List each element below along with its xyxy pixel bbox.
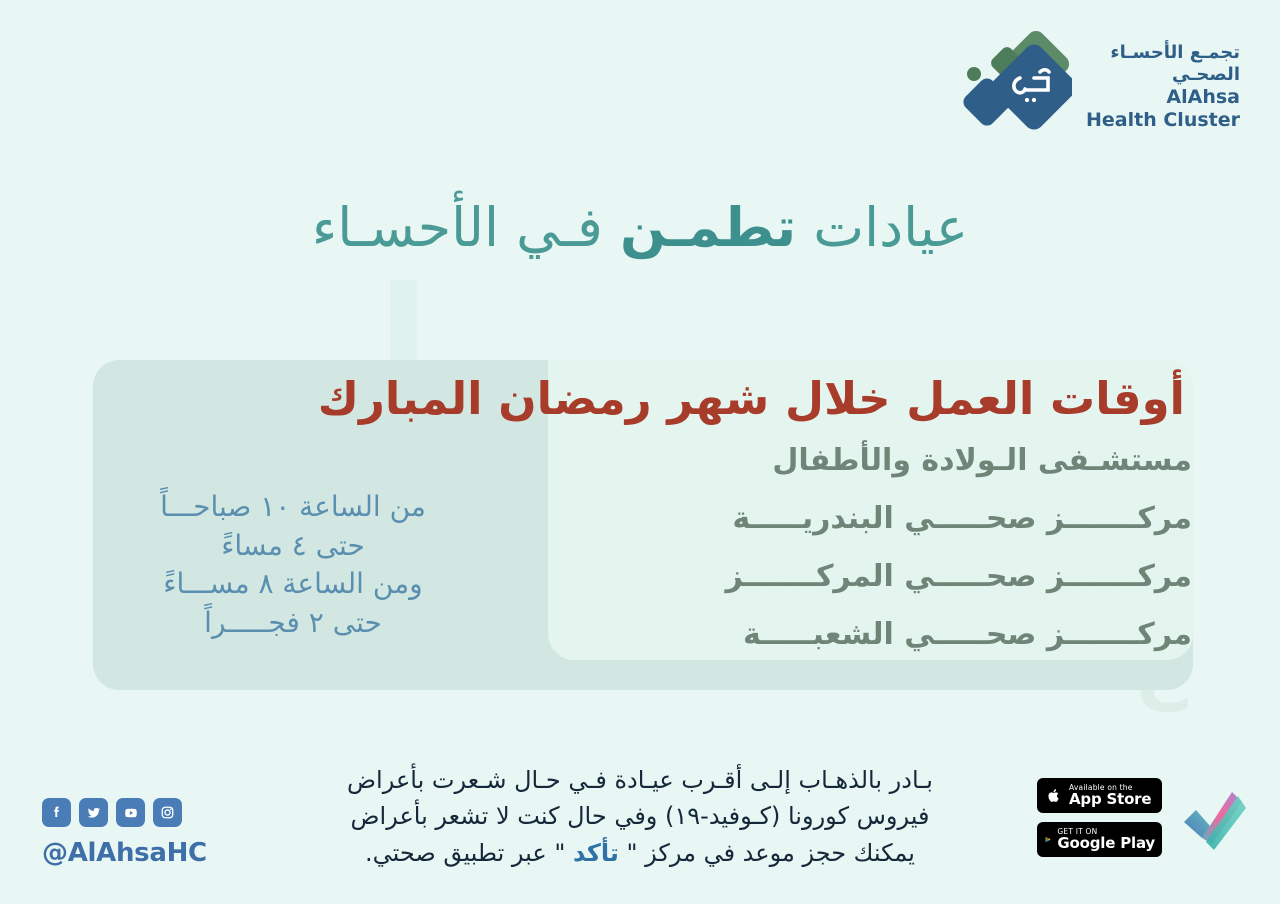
page-title-emphasis: تطمـن	[620, 196, 796, 259]
app-store-big-text: App Store	[1069, 792, 1151, 808]
covid-notice-line-3-before: يمكنك حجز موعد في مركز "	[619, 839, 915, 867]
facility-item: مركـــــــز صحـــــي البندريـــــة	[726, 501, 1192, 536]
hours-line: حتى ٢ فجـــــراً	[93, 604, 493, 643]
app-store-button[interactable]: Available on the App Store	[1037, 778, 1162, 813]
facility-item: مركـــــــز صحـــــي الشعبـــــة	[726, 617, 1192, 652]
facebook-icon[interactable]	[42, 798, 71, 827]
hours-line: من الساعة ١٠ صباحـــاً	[93, 488, 493, 527]
google-play-icon	[1044, 830, 1051, 849]
brand-name-ar-line2: الصحـي	[1086, 64, 1240, 86]
working-hours: من الساعة ١٠ صباحـــاً حتى ٤ مساءً ومن ا…	[93, 488, 493, 643]
card-heading: أوقات العمل خلال شهر رمضان المبارك	[93, 372, 1193, 425]
hours-line: ومن الساعة ٨ مســـاءً	[93, 565, 493, 604]
facility-item: مستشـفى الـولادة والأطفال	[726, 443, 1192, 478]
alahsa-diamond-logo-icon	[954, 28, 1072, 146]
page-title-suffix: فـي الأحسـاء	[312, 196, 620, 259]
app-store-badges: Available on the App Store GET IT ON Goo…	[1037, 778, 1250, 857]
tawakkalna-highlight: تأكد	[573, 839, 619, 867]
brand-logo: تجمـع الأحسـاء الصحـي AlAhsa Health Clus…	[954, 28, 1240, 146]
sehhaty-check-icon	[1176, 782, 1250, 854]
brand-name-en-line2: Health Cluster	[1086, 109, 1240, 132]
hours-line: حتى ٤ مساءً	[93, 527, 493, 566]
brand-name-en-line1: AlAhsa	[1086, 86, 1240, 109]
social-handle[interactable]: @AlAhsaHC	[42, 838, 207, 868]
badge-column: Available on the App Store GET IT ON Goo…	[1037, 778, 1162, 857]
apple-icon	[1044, 786, 1063, 805]
app-store-label: Available on the App Store	[1069, 784, 1151, 808]
covid-notice-line-3-after: " عبر تطبيق صحتي.	[365, 839, 573, 867]
twitter-icon[interactable]	[79, 798, 108, 827]
facility-list: مستشـفى الـولادة والأطفال مركـــــــز صح…	[726, 443, 1192, 652]
page-title-prefix: عيادات	[796, 196, 968, 259]
facility-item: مركـــــــز صحـــــي المركـــــــز	[726, 559, 1192, 594]
social-icons	[42, 798, 207, 827]
instagram-icon[interactable]	[153, 798, 182, 827]
google-play-button[interactable]: GET IT ON Google Play	[1037, 822, 1162, 857]
brand-logo-text: تجمـع الأحسـاء الصحـي AlAhsa Health Clus…	[1086, 42, 1240, 132]
brand-name-ar-line1: تجمـع الأحسـاء	[1086, 42, 1240, 64]
social-block: @AlAhsaHC	[42, 798, 207, 868]
page-title: عيادات تطمـن فـي الأحسـاء	[0, 196, 1280, 259]
poster-canvas: ل ع تجمـع الأحسـاء الصحـي AlAhsa Health …	[0, 0, 1280, 904]
youtube-icon[interactable]	[116, 798, 145, 827]
google-play-label: GET IT ON Google Play	[1057, 828, 1155, 852]
google-play-big-text: Google Play	[1057, 836, 1155, 852]
